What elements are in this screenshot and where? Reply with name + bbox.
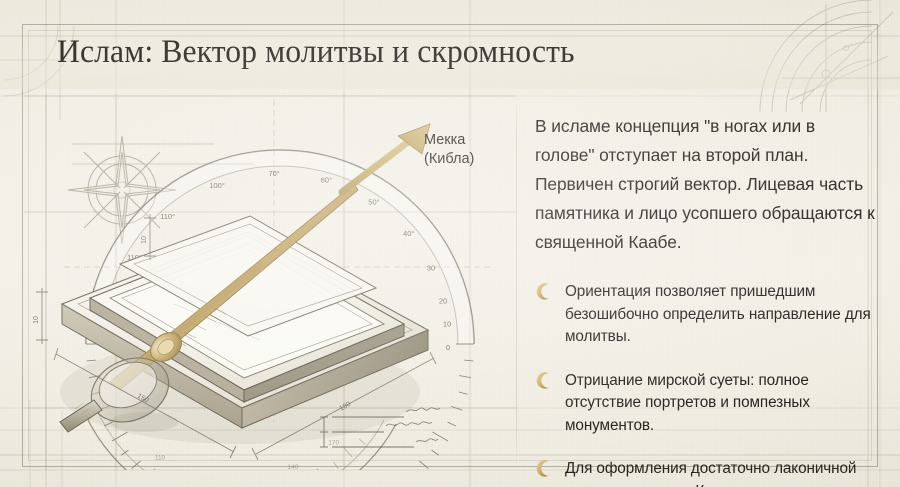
svg-text:10: 10 — [443, 319, 451, 328]
slide-root: Ислам: Вектор молитвы и скромность — [0, 0, 900, 487]
corner-arc-decoration — [760, 0, 900, 112]
list-item: Ориентация позволяет пришедшим безошибоч… — [535, 281, 875, 349]
svg-text:30: 30 — [427, 263, 435, 272]
svg-text:100°: 100° — [209, 181, 225, 190]
mecca-label-line1: Мекка — [424, 132, 465, 148]
intro-paragraph: В исламе концепция "в ногах или в голове… — [535, 112, 875, 257]
svg-text:170: 170 — [328, 439, 339, 446]
svg-text:20: 20 — [439, 296, 447, 305]
svg-text:10: 10 — [141, 236, 148, 244]
page-title: Ислам: Вектор молитвы и скромность — [57, 34, 575, 71]
svg-text:60°: 60° — [321, 176, 332, 185]
crescent-moon-icon — [535, 371, 554, 390]
svg-text:70°: 70° — [268, 169, 279, 178]
bullet-list: Ориентация позволяет пришедшим безошибоч… — [535, 281, 875, 487]
list-item-label: Отрицание мирской суеты: полное отсутств… — [565, 372, 810, 434]
crescent-moon-icon — [535, 282, 554, 301]
svg-text:0: 0 — [446, 343, 450, 352]
compass-rose — [68, 136, 176, 244]
svg-text:110°: 110° — [160, 212, 175, 221]
content-panel: В исламе концепция "в ногах или в голове… — [535, 112, 875, 487]
svg-text:40°: 40° — [403, 229, 414, 238]
svg-text:140: 140 — [288, 464, 299, 470]
svg-text:110: 110 — [155, 455, 166, 462]
crescent-moon-icon — [535, 459, 554, 478]
list-item-label: Для оформления достаточно лаконичной над… — [565, 460, 856, 487]
mecca-qibla-label: Мекка (Кибла) — [424, 131, 474, 169]
mecca-label-line2: (Кибла) — [424, 151, 474, 167]
svg-text:50°: 50° — [368, 198, 379, 207]
svg-text:10: 10 — [33, 316, 40, 324]
list-item: Отрицание мирской суеты: полное отсутств… — [535, 370, 875, 438]
list-item: Для оформления достаточно лаконичной над… — [535, 458, 875, 487]
list-item-label: Ориентация позволяет пришедшим безошибоч… — [565, 283, 871, 345]
panel-divider — [516, 96, 517, 468]
